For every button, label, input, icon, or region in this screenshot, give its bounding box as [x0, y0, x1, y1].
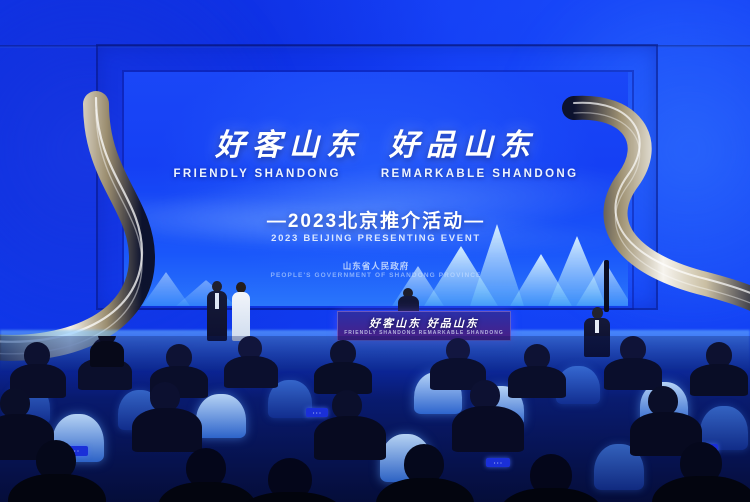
headline-cn-right: 好品山东 [389, 120, 537, 164]
audience-shoulders [508, 366, 566, 398]
event-photo: 好客山东 好品山东 FRIENDLY SHANDONG REMARKABLE S… [0, 0, 750, 502]
event-title-cn: —2023北京推介活动— [124, 206, 628, 233]
chair-placard: • • • [306, 408, 328, 417]
headline-chinese-row: 好客山东 好品山东 [124, 120, 628, 164]
audience-area: • • • • • • • • • • • • [0, 336, 750, 502]
audience-shoulders [132, 408, 202, 452]
audience-shoulders [314, 416, 386, 460]
chair-placard: • • • [486, 458, 510, 467]
led-screen: 好客山东 好品山东 FRIENDLY SHANDONG REMARKABLE S… [124, 72, 628, 306]
mic-stand-right [604, 260, 609, 312]
chair-placard-text: • • • [494, 461, 502, 465]
audience-shoulders [224, 356, 278, 388]
headline-cn-left: 好客山东 [215, 120, 363, 164]
headline-english-row: FRIENDLY SHANDONG REMARKABLE SHANDONG [124, 168, 628, 180]
audience-shoulders [690, 364, 748, 396]
audience-shoulders [604, 358, 662, 390]
camera-operator [90, 336, 124, 366]
podium-banner-cn: 好客山东 好品山东 [338, 315, 510, 331]
chair [196, 394, 246, 438]
host-female [231, 282, 251, 341]
audience-shoulders [238, 492, 344, 502]
audience-shoulders [8, 474, 106, 502]
audience-shoulders [500, 488, 602, 502]
audience-shoulders [652, 476, 750, 502]
organizer-cn: 山东省人民政府 [124, 260, 628, 272]
headline-en-left: FRIENDLY SHANDONG [174, 168, 341, 180]
audience-shoulders [314, 362, 372, 394]
host-male [206, 281, 228, 341]
audience-shoulders [452, 406, 524, 452]
event-title-en: 2023 BEIJING PRESENTING EVENT [124, 233, 628, 244]
audience-shoulders [158, 482, 256, 502]
headline-en-right: REMARKABLE SHANDONG [381, 168, 579, 180]
organizer-en: PEOPLE'S GOVERNMENT OF SHANDONG PROVINCE [124, 272, 628, 279]
chair-placard-text: • • • [313, 411, 321, 415]
